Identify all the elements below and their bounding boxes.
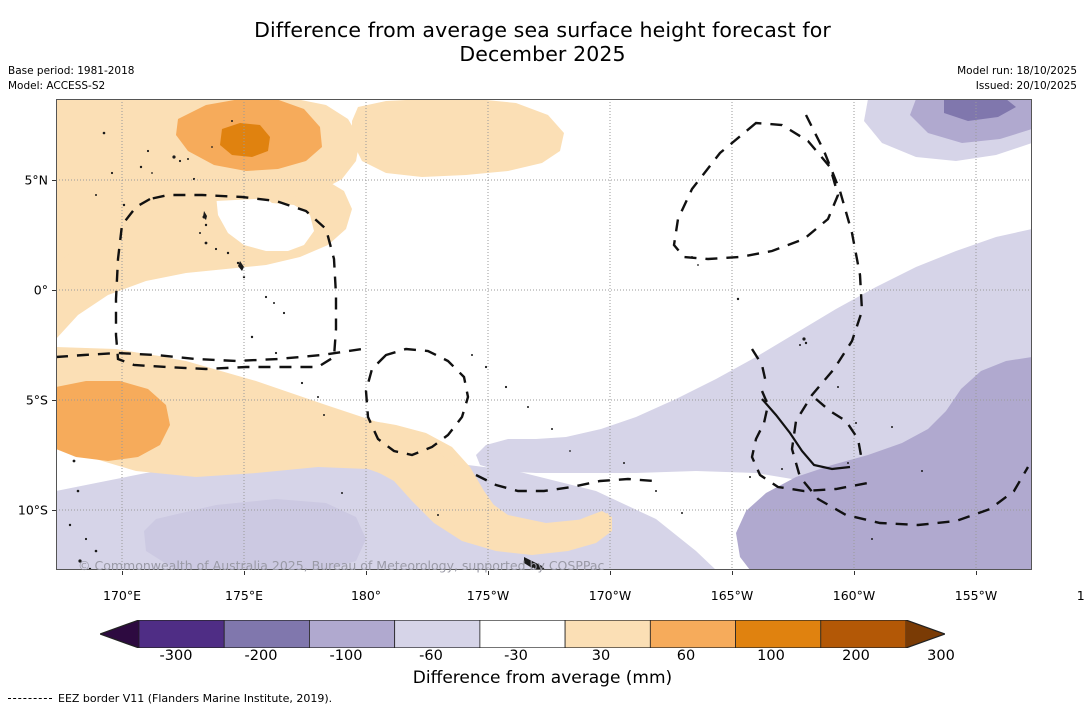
- ytick-mark-0: [52, 290, 56, 291]
- colorbar-tick-30: 30: [592, 648, 610, 664]
- base-period-text: Base period: 1981-2018: [8, 64, 134, 79]
- colorbar-extend-over: [906, 620, 945, 648]
- xtick-mark-170e: [122, 571, 123, 575]
- colorbar-band-7: [736, 620, 821, 648]
- xtick-label-175w: 175°W: [467, 588, 509, 603]
- eez-dash-swatch-icon: [8, 698, 52, 699]
- colorbar-extend-under: [100, 620, 139, 648]
- xtick-label-170w: 170°W: [589, 588, 631, 603]
- ytick-label-0: 0°: [34, 283, 48, 298]
- colorbar-band-5: [565, 620, 650, 648]
- colorbar-band-6: [650, 620, 735, 648]
- ytick-label-5n: 5°N: [24, 173, 48, 188]
- ytick-mark-10s: [52, 510, 56, 511]
- xtick-mark-175w: [488, 571, 489, 575]
- sea-surface-height-map: [56, 99, 1032, 570]
- colorbar-axis-label: Difference from average (mm): [0, 668, 1085, 688]
- xtick-mark-155w: [976, 571, 977, 575]
- colorbar-band-4: [480, 620, 565, 648]
- xtick-label-160w: 160°W: [833, 588, 875, 603]
- xtick-label-150w: 150°W: [1077, 588, 1085, 603]
- ytick-label-10s: 10°S: [18, 503, 48, 518]
- xtick-mark-180: [366, 571, 367, 575]
- colorbar-band-0: [139, 620, 224, 648]
- xtick-label-165w: 165°W: [711, 588, 753, 603]
- xtick-mark-170w: [610, 571, 611, 575]
- colorbar-tick-300: 300: [927, 648, 955, 664]
- annotation-left: Base period: 1981-2018 Model: ACCESS-S2: [8, 64, 134, 93]
- xtick-label-170e: 170°E: [103, 588, 141, 603]
- footer-legend: EEZ border V11 (Flanders Marine Institut…: [8, 692, 332, 705]
- colorbar[interactable]: [100, 620, 945, 648]
- colorbar-tick-60: 60: [677, 648, 695, 664]
- colorbar-tick-100: 100: [757, 648, 785, 664]
- ytick-mark-5n: [52, 180, 56, 181]
- colorbar-swatches: [100, 620, 945, 648]
- model-text: Model: ACCESS-S2: [8, 79, 134, 94]
- colorbar-tick-200: 200: [842, 648, 870, 664]
- issued-text: Issued: 20/10/2025: [957, 79, 1077, 94]
- colorbar-tick--30: -30: [504, 648, 528, 664]
- xtick-label-155w: 155°W: [955, 588, 997, 603]
- colorbar-band-8: [821, 620, 906, 648]
- page-title: Difference from average sea surface heig…: [0, 18, 1085, 66]
- ytick-label-5s: 5°S: [26, 393, 48, 408]
- xtick-mark-175e: [244, 571, 245, 575]
- xtick-label-175e: 175°E: [225, 588, 263, 603]
- colorbar-tick--200: -200: [245, 648, 278, 664]
- ytick-mark-5s: [52, 400, 56, 401]
- figure-canvas: Difference from average sea surface heig…: [0, 0, 1085, 713]
- colorbar-band-2: [309, 620, 394, 648]
- colorbar-tick--300: -300: [160, 648, 193, 664]
- xtick-label-180: 180°: [351, 588, 381, 603]
- footer-legend-label: EEZ border V11 (Flanders Marine Institut…: [58, 692, 332, 705]
- xtick-mark-165w: [732, 571, 733, 575]
- colorbar-tick--60: -60: [419, 648, 443, 664]
- xtick-mark-160w: [854, 571, 855, 575]
- colorbar-band-3: [395, 620, 480, 648]
- colorbar-tick--100: -100: [330, 648, 363, 664]
- model-run-text: Model run: 18/10/2025: [957, 64, 1077, 79]
- annotation-right: Model run: 18/10/2025 Issued: 20/10/2025: [957, 64, 1077, 93]
- map-plot-area[interactable]: [56, 99, 1032, 570]
- colorbar-band-1: [224, 620, 309, 648]
